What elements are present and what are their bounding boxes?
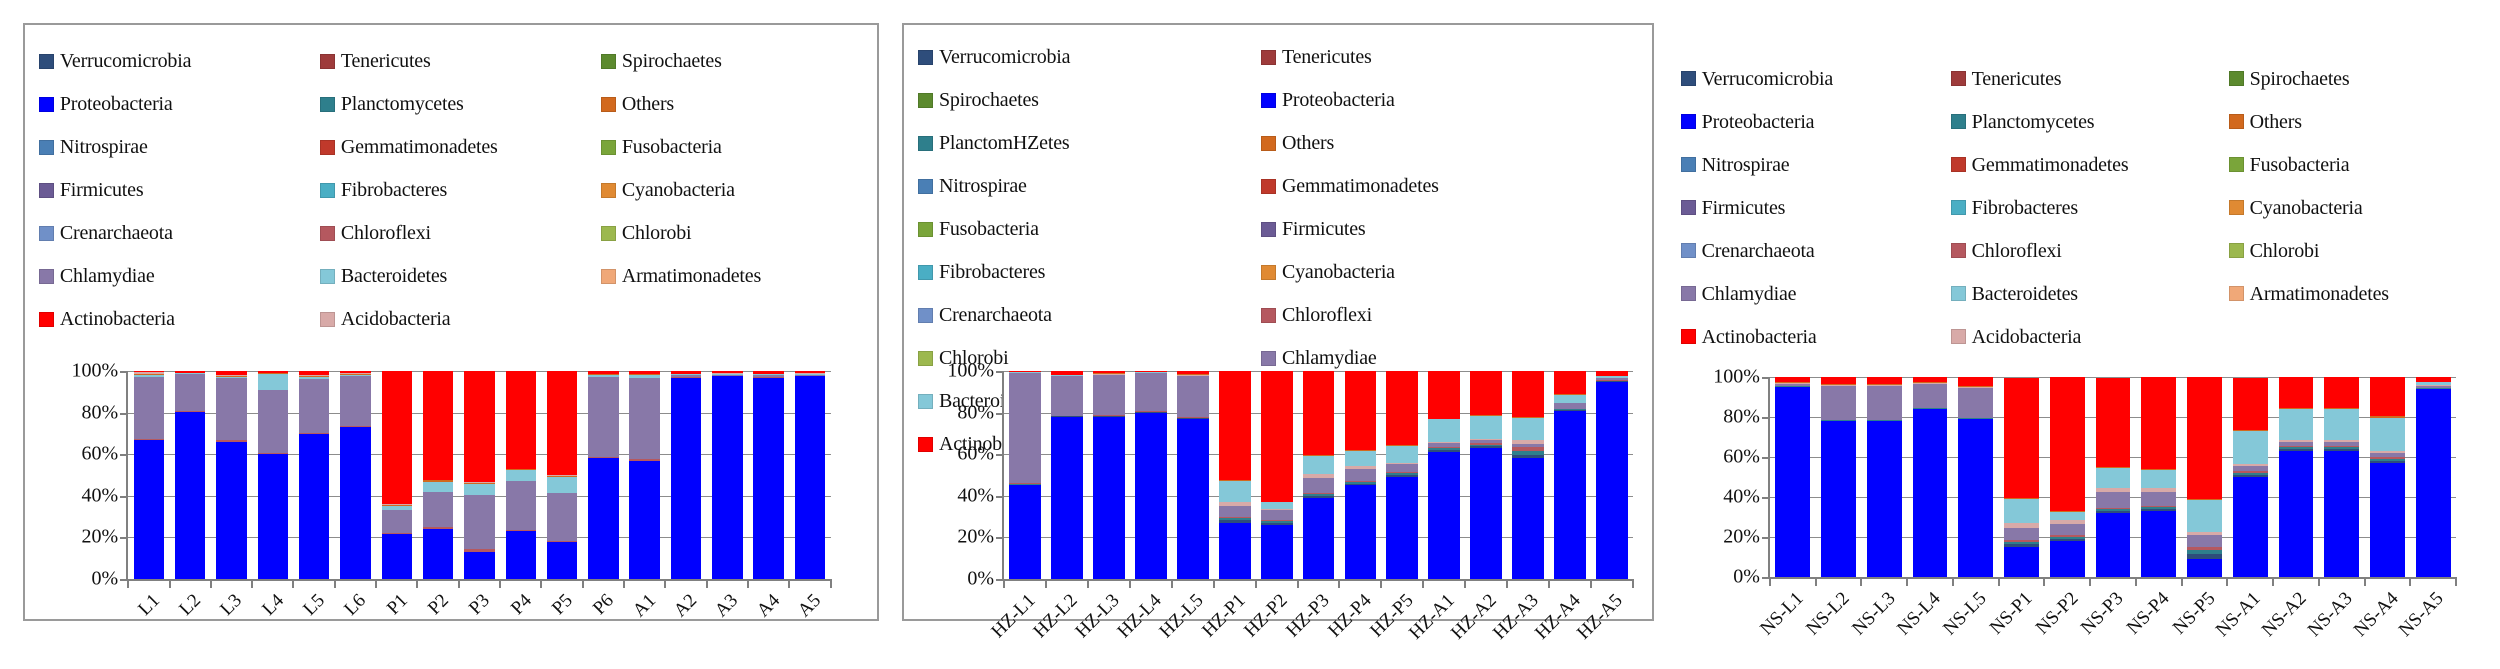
bar-segment-chlamydiae <box>1177 376 1209 418</box>
legend-swatch-icon <box>320 140 335 155</box>
bar-segment-chlamydiae <box>1009 373 1041 483</box>
legend-item-label: Firmicutes <box>1282 219 1366 239</box>
bar-segment-actinobacteria <box>1428 371 1460 418</box>
legend-item-proteobacteria[interactable]: Proteobacteria <box>1681 100 1951 143</box>
stacked-bar[interactable] <box>1428 371 1460 579</box>
legend-swatch-icon <box>918 179 933 194</box>
bar-slot <box>1172 371 1214 579</box>
bar-segment-proteobacteria <box>629 461 660 579</box>
stacked-bar[interactable] <box>1345 371 1377 579</box>
stacked-bar[interactable] <box>2004 377 2039 576</box>
legend-item-gemmatimonadetes[interactable]: Gemmatimonadetes <box>1951 143 2229 186</box>
bar-segment-chlamydiae <box>506 481 537 530</box>
legend-item-label: Cyanobacteria <box>2250 198 2363 218</box>
bar-slot <box>1999 377 2045 576</box>
legend-item-chloroflexi[interactable]: Chloroflexi <box>1261 294 1637 337</box>
stacked-bar[interactable] <box>547 371 578 579</box>
legend-item-cyanobacteria[interactable]: Cyanobacteria <box>601 169 882 212</box>
y-tick-label: 100% <box>1713 366 1760 389</box>
bar-segment-bacteroidetes <box>1470 416 1502 439</box>
y-tick-mark <box>120 371 128 373</box>
legend-swatch-icon <box>601 140 616 155</box>
bar-segment-chlamydiae <box>216 378 247 440</box>
stacked-bar[interactable] <box>629 371 660 579</box>
bar-segment-proteobacteria <box>175 412 206 579</box>
legend-swatch-icon <box>1681 71 1696 86</box>
bar-segment-chlamydiae <box>1135 373 1167 411</box>
bar-slot <box>1953 377 1999 576</box>
x-tick-label: P5 <box>548 590 578 620</box>
legend-item-firmicutes[interactable]: Firmicutes <box>39 169 320 212</box>
bar-slot <box>2090 377 2136 576</box>
stacked-bar[interactable] <box>1261 371 1293 579</box>
legend-item-label: Armatimonadetes <box>622 266 761 286</box>
legend-swatch-icon <box>1681 157 1696 172</box>
legend-item-bacteroidetes[interactable]: Bacteroidetes <box>320 255 601 298</box>
stacked-bar[interactable] <box>1958 377 1993 576</box>
bar-segment-chlamydiae <box>2050 524 2085 535</box>
legend-swatch-icon <box>1681 286 1696 301</box>
legend-item-tenericutes[interactable]: Tenericutes <box>320 40 601 83</box>
legend-item-actinobacteria[interactable]: Actinobacteria <box>39 298 320 341</box>
bar-slot <box>1549 371 1591 579</box>
bar-segment-actinobacteria <box>2279 377 2314 407</box>
stacked-bar[interactable] <box>2050 377 2085 576</box>
x-tick-label: A4 <box>752 590 784 622</box>
legend-item-proteobacteria[interactable]: Proteobacteria <box>1261 79 1637 122</box>
x-tick-label: NS-L1 <box>1756 588 1808 640</box>
legend-item-label: PlanctomHZetes <box>939 133 1070 153</box>
bar-segment-chlamydiae <box>1867 386 1902 420</box>
y-tick-mark <box>120 537 128 539</box>
bar-slot <box>1381 371 1423 579</box>
legend-item-label: Firmicutes <box>1702 198 1786 218</box>
legend-item-crenarchaeota[interactable]: Crenarchaeota <box>1681 229 1951 272</box>
bar-segment-chlamydiae <box>423 492 454 527</box>
legend-item-label: Fibrobacteres <box>341 180 447 200</box>
bar-segment-proteobacteria <box>795 376 826 578</box>
bar-slot <box>459 371 500 579</box>
legend-swatch-icon <box>601 54 616 69</box>
legend-item-bacteroidetes[interactable]: Bacteroidetes <box>1951 272 2229 315</box>
legend-swatch-icon <box>39 312 54 327</box>
legend-item-label: Tenericutes <box>1282 47 1372 67</box>
legend-item-label: Cyanobacteria <box>622 180 735 200</box>
bar-slot <box>335 371 376 579</box>
legend-swatch-icon <box>39 226 54 241</box>
bar-segment-actinobacteria <box>1386 371 1418 445</box>
bar-slot <box>789 371 830 579</box>
bar-segment-proteobacteria <box>2004 547 2039 577</box>
bar-segment-actinobacteria <box>1821 377 1856 384</box>
legend-item-label: Chlorobi <box>622 223 692 243</box>
legend-item-verrucomicrobia[interactable]: Verrucomicrobia <box>1681 57 1951 100</box>
legend-swatch-icon <box>601 183 616 198</box>
stacked-bar[interactable] <box>1470 371 1502 579</box>
bar-segment-proteobacteria <box>2416 389 2451 576</box>
x-tick-label: HZ-L1 <box>988 590 1041 643</box>
bar-slot <box>1046 371 1088 579</box>
bar-segment-chlamydiae <box>629 378 660 460</box>
bar-slot <box>1088 371 1130 579</box>
legend-item-spirochaetes[interactable]: Spirochaetes <box>918 79 1261 122</box>
stacked-bar[interactable] <box>1386 371 1418 579</box>
legend-item-acidobacteria[interactable]: Acidobacteria <box>320 298 601 341</box>
legend-item-label: Bacteroidetes <box>341 266 447 286</box>
legend-item-actinobacteria[interactable]: Actinobacteria <box>1681 315 1951 358</box>
bar-segment-proteobacteria <box>2233 477 2268 577</box>
legend-swatch-icon <box>320 54 335 69</box>
bar-segment-actinobacteria <box>2324 377 2359 407</box>
bar-segment-proteobacteria <box>2279 451 2314 577</box>
bar-segment-proteobacteria <box>1261 525 1293 579</box>
bar-segment-chlamydiae <box>1093 375 1125 415</box>
legend-item-label: Verrucomicrobia <box>939 47 1070 67</box>
x-axis-labels: HZ-L1HZ-L2HZ-L3HZ-L4HZ-L5HZ-P1HZ-P2HZ-P3… <box>1004 579 1633 669</box>
bar-segment-actinobacteria <box>2141 377 2176 469</box>
x-tick-label: P2 <box>424 590 454 620</box>
legend-item-crenarchaeota[interactable]: Crenarchaeota <box>39 212 320 255</box>
bar-slot <box>624 371 665 579</box>
stacked-bar[interactable] <box>382 371 413 579</box>
bar-segment-proteobacteria <box>1093 417 1125 579</box>
bar-segment-actinobacteria <box>2050 377 2085 511</box>
bar-segment-proteobacteria <box>547 542 578 578</box>
legend-item-label: Gemmatimonadetes <box>1282 176 1439 196</box>
bar-slot <box>1861 377 1907 576</box>
bar-segment-proteobacteria <box>134 440 165 579</box>
legend-item-gemmatimonadetes[interactable]: Gemmatimonadetes <box>320 126 601 169</box>
bar-segment-proteobacteria <box>258 454 289 579</box>
bar-segment-bacteroidetes <box>2324 409 2359 441</box>
stacked-bar[interactable] <box>1821 377 1856 576</box>
plot-area: 0%20%40%60%80%100%NS-L1NS-L2NS-L3NS-L4NS… <box>1667 377 2457 578</box>
legend-item-chloroflexi[interactable]: Chloroflexi <box>320 212 601 255</box>
y-tick-label: 60% <box>1723 446 1760 469</box>
legend-item-chloroflexi[interactable]: Chloroflexi <box>1951 229 2229 272</box>
y-tick-label: 80% <box>957 401 994 424</box>
legend-item-planctomhzetes[interactable]: PlanctomHZetes <box>918 122 1261 165</box>
bar-group <box>128 371 831 579</box>
legend-item-fibrobacteres[interactable]: Fibrobacteres <box>918 251 1261 294</box>
stacked-bar[interactable] <box>506 371 537 579</box>
bar-slot <box>252 371 293 579</box>
bar-slot <box>1507 371 1549 579</box>
stacked-bar[interactable] <box>1135 371 1167 579</box>
legend-item-others[interactable]: Others <box>2229 100 2499 143</box>
stacked-bar[interactable] <box>134 371 165 579</box>
legend-item-chlorobi[interactable]: Chlorobi <box>2229 229 2499 272</box>
legend-item-label: Actinobacteria <box>60 309 175 329</box>
bar-segment-proteobacteria <box>1135 413 1167 579</box>
bar-segment-chlamydiae <box>547 493 578 541</box>
x-tick-label: L5 <box>299 590 329 620</box>
bar-segment-actinobacteria <box>2370 377 2405 416</box>
legend-item-proteobacteria[interactable]: Proteobacteria <box>39 83 320 126</box>
bar-slot <box>2410 377 2456 576</box>
plot-canvas: NS-L1NS-L2NS-L3NS-L4NS-L5NS-P1NS-P2NS-P3… <box>1768 377 2456 578</box>
bar-segment-chlamydiae <box>382 510 413 533</box>
legend-swatch-icon <box>1261 93 1276 108</box>
x-tick-label: P6 <box>589 590 619 620</box>
legend-swatch-icon <box>1951 200 1966 215</box>
bar-segment-chlamydiae <box>175 374 206 411</box>
legend-item-label: Chloroflexi <box>1972 241 2062 261</box>
legend-item-fibrobacteres[interactable]: Fibrobacteres <box>320 169 601 212</box>
stacked-bar[interactable] <box>1093 371 1125 579</box>
x-tick-label: P1 <box>383 590 413 620</box>
stacked-bar[interactable] <box>1596 371 1628 579</box>
stacked-bar[interactable] <box>1303 371 1335 579</box>
stacked-bar[interactable] <box>1775 377 1810 576</box>
bar-segment-actinobacteria <box>1958 377 1993 386</box>
y-tick-mark <box>1762 417 1770 419</box>
stacked-bar[interactable] <box>2141 377 2176 576</box>
legend-swatch-icon <box>1261 136 1276 151</box>
stacked-bar[interactable] <box>299 371 330 579</box>
legend-item-armatimonadetes[interactable]: Armatimonadetes <box>2229 272 2499 315</box>
stacked-bar[interactable] <box>423 371 454 579</box>
stacked-bar[interactable] <box>2370 377 2405 576</box>
bar-segment-proteobacteria <box>423 529 454 579</box>
legend-item-spirochaetes[interactable]: Spirochaetes <box>601 40 882 83</box>
legend-swatch-icon <box>1951 286 1966 301</box>
legend-swatch-icon <box>2229 200 2244 215</box>
legend-item-cyanobacteria[interactable]: Cyanobacteria <box>1261 251 1637 294</box>
x-tick-label: A5 <box>794 590 826 622</box>
stacked-bar[interactable] <box>464 371 495 579</box>
bar-segment-bacteroidetes <box>1345 451 1377 466</box>
legend-swatch-icon <box>1951 114 1966 129</box>
legend-swatch-icon <box>1951 157 1966 172</box>
bar-segment-actinobacteria <box>1867 377 1902 384</box>
legend-item-acidobacteria[interactable]: Acidobacteria <box>1951 315 2229 358</box>
legend-swatch-icon <box>1951 71 1966 86</box>
legend-item-nitrospirae[interactable]: Nitrospirae <box>918 165 1261 208</box>
legend-item-nitrospirae[interactable]: Nitrospirae <box>1681 143 1951 186</box>
legend-swatch-icon <box>1261 50 1276 65</box>
bar-segment-bacteroidetes <box>506 470 537 480</box>
bar-slot <box>1816 377 1862 576</box>
legend-item-label: Tenericutes <box>341 51 431 71</box>
legend-item-crenarchaeota[interactable]: Crenarchaeota <box>918 294 1261 337</box>
legend-item-label: Proteobacteria <box>1282 90 1395 110</box>
y-tick-label: 100% <box>72 360 119 383</box>
bar-segment-proteobacteria <box>1470 448 1502 579</box>
y-tick-label: 60% <box>957 443 994 466</box>
bar-slot <box>293 371 334 579</box>
legend-swatch-icon <box>2229 286 2244 301</box>
stacked-bar[interactable] <box>1554 371 1586 579</box>
plot-canvas: HZ-L1HZ-L2HZ-L3HZ-L4HZ-L5HZ-P1HZ-P2HZ-P3… <box>1002 371 1633 581</box>
bar-segment-proteobacteria <box>2096 513 2131 577</box>
bar-segment-proteobacteria <box>299 434 330 579</box>
legend-item-label: Fusobacteria <box>939 219 1039 239</box>
legend-item-label: Proteobacteria <box>60 94 173 114</box>
stacked-bar[interactable] <box>1512 371 1544 579</box>
bar-segment-proteobacteria <box>1009 485 1041 578</box>
bar-segment-chlamydiae <box>340 376 371 427</box>
y-tick-label: 80% <box>82 401 119 424</box>
x-tick-label: A3 <box>711 590 743 622</box>
legend-item-label: Chlorobi <box>2250 241 2320 261</box>
y-tick-mark <box>1762 457 1770 459</box>
panel-3: VerrucomicrobiaProteobacteriaNitrospirae… <box>1667 42 2484 581</box>
bar-slot <box>1130 371 1172 579</box>
x-tick-label: L6 <box>341 590 371 620</box>
legend-item-label: Nitrospirae <box>1702 155 1790 175</box>
panel-2: VerrucomicrobiaSpirochaetesPlanctomHZete… <box>902 23 1654 621</box>
legend-item-verrucomicrobia[interactable]: Verrucomicrobia <box>918 36 1261 79</box>
bar-segment-actinobacteria <box>1261 371 1293 501</box>
legend-swatch-icon <box>1681 114 1696 129</box>
legend-item-spirochaetes[interactable]: Spirochaetes <box>2229 57 2499 100</box>
bar-segment-actinobacteria <box>1303 371 1335 454</box>
y-tick-label: 20% <box>82 526 119 549</box>
bar-segment-bacteroidetes <box>1428 419 1460 442</box>
stacked-bar[interactable] <box>216 371 247 579</box>
legend-item-firmicutes[interactable]: Firmicutes <box>1681 186 1951 229</box>
bar-segment-proteobacteria <box>1386 477 1418 579</box>
y-tick-label: 20% <box>1723 525 1760 548</box>
legend-item-fusobacteria[interactable]: Fusobacteria <box>918 208 1261 251</box>
stacked-bar[interactable] <box>1867 377 1902 576</box>
bar-segment-chlamydiae <box>1386 464 1418 471</box>
bar-slot <box>1907 377 1953 576</box>
bar-segment-chlamydiae <box>2096 492 2131 508</box>
stacked-bar[interactable] <box>671 371 702 579</box>
stacked-bar[interactable] <box>588 371 619 579</box>
bar-slot <box>2136 377 2182 576</box>
legend-item-planctomycetes[interactable]: Planctomycetes <box>320 83 601 126</box>
y-tick-label: 40% <box>957 484 994 507</box>
bar-segment-bacteroidetes <box>2370 418 2405 452</box>
legend-swatch-icon <box>918 308 933 323</box>
bar-slot <box>1298 371 1340 579</box>
stacked-bar[interactable] <box>175 371 206 579</box>
legend-swatch-icon <box>2229 243 2244 258</box>
y-tick-label: 0% <box>967 567 994 590</box>
bar-slot <box>2182 377 2228 576</box>
legend-item-tenericutes[interactable]: Tenericutes <box>1951 57 2229 100</box>
stacked-bar[interactable] <box>340 371 371 579</box>
stacked-bar[interactable] <box>1177 371 1209 579</box>
legend-item-others[interactable]: Others <box>1261 122 1637 165</box>
phyla-composition-figure: VerrucomicrobiaProteobacteriaNitrospirae… <box>0 0 2500 650</box>
legend-item-chlorobi[interactable]: Chlorobi <box>601 212 882 255</box>
y-axis: 0%20%40%60%80%100% <box>25 371 126 579</box>
bar-segment-proteobacteria <box>1775 387 1810 576</box>
legend-item-planctomycetes[interactable]: Planctomycetes <box>1951 100 2229 143</box>
legend-item-label: Armatimonadetes <box>2250 284 2389 304</box>
bar-segment-proteobacteria <box>382 534 413 579</box>
bar-segment-proteobacteria <box>1303 498 1335 579</box>
stacked-bar[interactable] <box>1051 371 1083 579</box>
bar-slot <box>1214 371 1256 579</box>
legend-item-label: Chlamydiae <box>1282 348 1377 368</box>
legend-item-label: Gemmatimonadetes <box>1972 155 2129 175</box>
bar-segment-actinobacteria <box>2233 378 2268 430</box>
legend-item-tenericutes[interactable]: Tenericutes <box>1261 36 1637 79</box>
legend-swatch-icon <box>320 312 335 327</box>
legend-item-fibrobacteres[interactable]: Fibrobacteres <box>1951 186 2229 229</box>
stacked-bar[interactable] <box>258 371 289 579</box>
stacked-bar[interactable] <box>1009 371 1041 579</box>
legend-item-label: Others <box>2250 112 2302 132</box>
legend-swatch-icon <box>1261 265 1276 280</box>
legend-swatch-icon <box>918 50 933 65</box>
x-tick-label: L4 <box>258 590 288 620</box>
legend-item-label: Fibrobacteres <box>939 262 1045 282</box>
stacked-bar[interactable] <box>753 371 784 579</box>
bar-slot <box>583 371 624 579</box>
legend-swatch-icon <box>1681 243 1696 258</box>
legend-swatch-icon <box>918 136 933 151</box>
bar-segment-actinobacteria <box>2004 378 2039 498</box>
y-axis: 0%20%40%60%80%100% <box>904 371 1002 579</box>
legend-item-firmicutes[interactable]: Firmicutes <box>1261 208 1637 251</box>
legend-item-label: Chlamydiae <box>1702 284 1797 304</box>
stacked-bar[interactable] <box>2416 377 2451 576</box>
bar-segment-chlamydiae <box>2187 535 2222 547</box>
bar-segment-bacteroidetes <box>423 482 454 492</box>
bar-segment-bacteroidetes <box>2050 512 2085 520</box>
legend-item-armatimonadetes[interactable]: Armatimonadetes <box>601 255 882 298</box>
legend-item-label: Fibrobacteres <box>1972 198 2078 218</box>
legend-swatch-icon <box>2229 157 2244 172</box>
bar-segment-actinobacteria <box>1470 371 1502 415</box>
stacked-bar[interactable] <box>2187 377 2222 576</box>
legend-item-chlamydiae[interactable]: Chlamydiae <box>1681 272 1951 315</box>
stacked-bar[interactable] <box>1219 371 1251 579</box>
legend-item-others[interactable]: Others <box>601 83 882 126</box>
bar-slot <box>2365 377 2411 576</box>
legend-item-chlamydiae[interactable]: Chlamydiae <box>39 255 320 298</box>
bar-segment-actinobacteria <box>547 371 578 475</box>
stacked-bar[interactable] <box>712 371 743 579</box>
y-tick-mark <box>996 496 1004 498</box>
bar-slot <box>748 371 789 579</box>
stacked-bar[interactable] <box>2096 377 2131 576</box>
bar-segment-proteobacteria <box>2187 559 2222 577</box>
legend-item-verrucomicrobia[interactable]: Verrucomicrobia <box>39 40 320 83</box>
y-tick-label: 100% <box>947 360 994 383</box>
bar-segment-proteobacteria <box>1177 419 1209 579</box>
legend-item-nitrospirae[interactable]: Nitrospirae <box>39 126 320 169</box>
x-tick-label: A2 <box>670 590 702 622</box>
stacked-bar[interactable] <box>2233 377 2268 576</box>
stacked-bar[interactable] <box>2279 377 2314 576</box>
legend-item-label: Verrucomicrobia <box>60 51 191 71</box>
stacked-bar[interactable] <box>795 371 826 579</box>
y-tick-label: 60% <box>82 443 119 466</box>
bar-segment-proteobacteria <box>2050 541 2085 577</box>
legend-item-fusobacteria[interactable]: Fusobacteria <box>601 126 882 169</box>
bar-slot <box>2273 377 2319 576</box>
bar-segment-proteobacteria <box>2370 463 2405 577</box>
stacked-bar[interactable] <box>1913 377 1948 576</box>
stacked-bar[interactable] <box>2324 377 2359 576</box>
y-tick-label: 0% <box>92 567 119 590</box>
legend-item-fusobacteria[interactable]: Fusobacteria <box>2229 143 2499 186</box>
legend-item-gemmatimonadetes[interactable]: Gemmatimonadetes <box>1261 165 1637 208</box>
legend-swatch-icon <box>39 269 54 284</box>
legend-item-cyanobacteria[interactable]: Cyanobacteria <box>2229 186 2499 229</box>
legend-swatch-icon <box>39 140 54 155</box>
bar-segment-proteobacteria <box>1958 419 1993 576</box>
bar-segment-bacteroidetes <box>2187 500 2222 532</box>
legend-swatch-icon <box>320 269 335 284</box>
